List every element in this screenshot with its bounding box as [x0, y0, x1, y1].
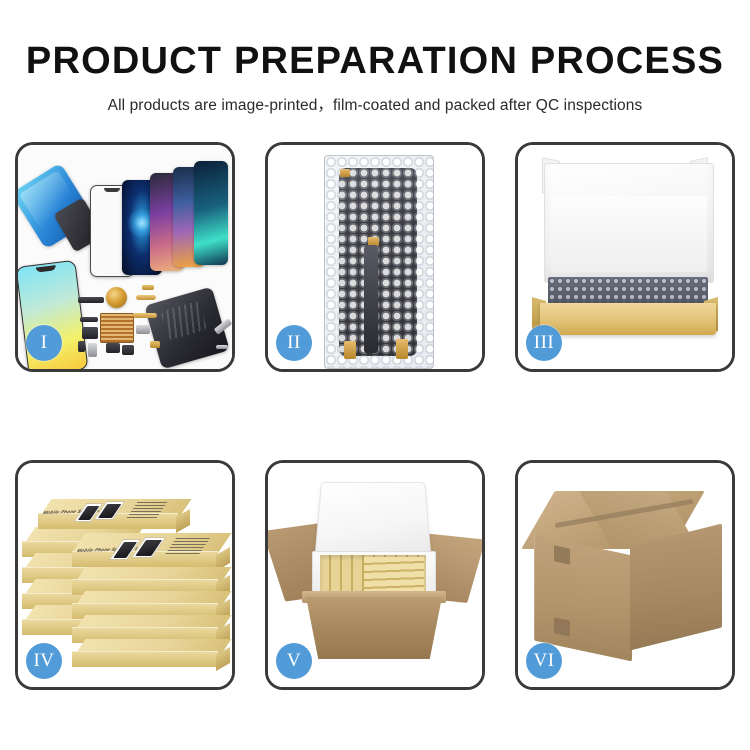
wrapped-display-cable — [364, 245, 378, 353]
part-flex-cable — [136, 295, 156, 300]
part-button — [78, 341, 85, 352]
part-antenna — [80, 317, 98, 322]
retail-box-front-5 — [72, 639, 218, 667]
step-badge-6: VI — [526, 643, 562, 679]
process-step-panel-1[interactable]: I — [15, 142, 235, 372]
carton-tape-strip-top — [554, 545, 570, 564]
step-badge-4: IV — [26, 643, 62, 679]
styrofoam-lid — [315, 482, 432, 556]
part-flex-cable-2 — [133, 313, 157, 318]
logic-board-chip — [100, 313, 134, 343]
carton-tape-strip-bottom — [554, 617, 570, 636]
process-step-grid: I II III — [15, 142, 735, 682]
process-step-panel-3[interactable]: III — [515, 142, 735, 372]
part-sim-tray — [88, 343, 97, 357]
process-step-panel-5[interactable]: V — [265, 460, 485, 690]
bubble-wrap-package — [324, 155, 434, 369]
part-metal-shield — [136, 325, 150, 334]
wrapped-flex-tab-bl — [344, 341, 356, 359]
part-speaker — [106, 343, 120, 353]
wireless-charging-coil-icon — [106, 287, 127, 308]
page-title: PRODUCT PREPARATION PROCESS — [0, 0, 750, 82]
process-step-panel-2[interactable]: II — [265, 142, 485, 372]
part-connector — [78, 297, 104, 303]
white-foam-lid — [544, 163, 714, 283]
part-taptic-engine — [122, 345, 134, 355]
part-screwdriver — [216, 345, 228, 349]
step-badge-1: I — [26, 325, 62, 361]
kraft-box-front-panel — [540, 303, 716, 335]
wrapped-flex-tab-br — [396, 339, 408, 359]
part-gold-bracket — [142, 285, 154, 290]
step-badge-3: III — [526, 325, 562, 361]
carton-front-face — [534, 535, 632, 662]
part-screw-set — [150, 341, 160, 348]
step-badge-2: II — [276, 325, 312, 361]
page-subtitle: All products are image-printed，film-coat… — [0, 82, 750, 115]
carton-front-panel — [306, 597, 442, 659]
process-step-panel-4[interactable]: Mobile Phone Spare Parts Mobile Phone Sp… — [15, 460, 235, 690]
wrapped-flex-tab-top — [340, 169, 350, 177]
step-badge-5: V — [276, 643, 312, 679]
process-step-panel-6[interactable]: VI — [515, 460, 735, 690]
header: PRODUCT PREPARATION PROCESS All products… — [0, 0, 750, 115]
phone-display-teal — [194, 161, 228, 265]
part-camera-module — [82, 327, 98, 339]
inner-retail-boxes-row-b — [364, 557, 424, 593]
